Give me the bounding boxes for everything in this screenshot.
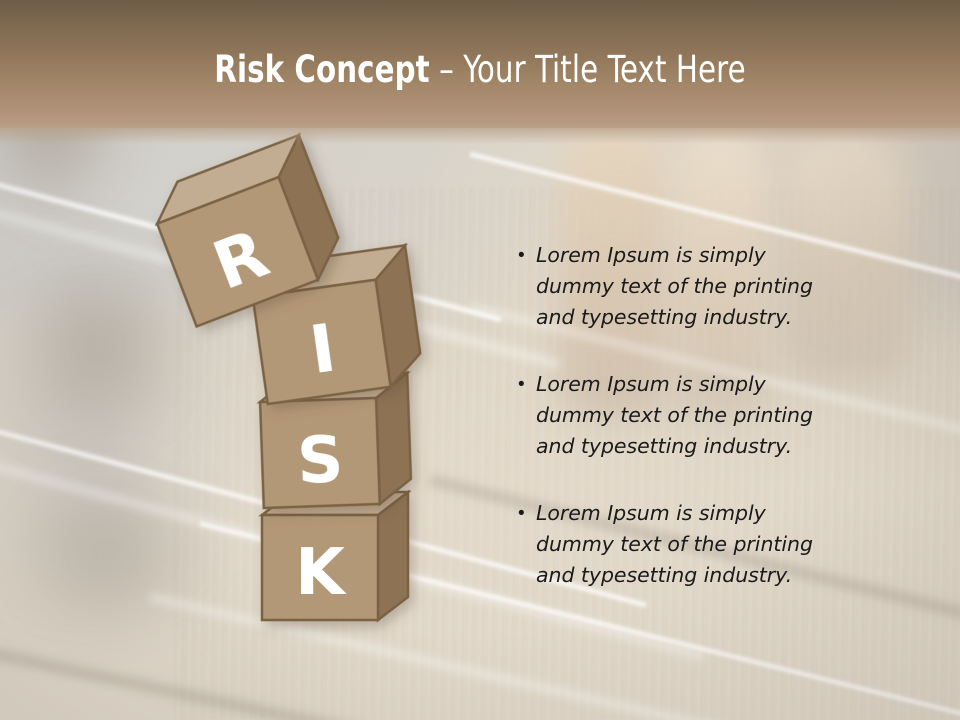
bullet-glyph-icon: • (508, 498, 536, 529)
bullet-item: • Lorem Ipsum is simply dummy text of th… (508, 498, 908, 591)
bullet-glyph-icon: • (508, 369, 536, 400)
bullet-text: Lorem Ipsum is simply dummy text of the … (536, 498, 814, 591)
title-rest-part: – Your Title Text Here (430, 48, 746, 91)
bullet-item: • Lorem Ipsum is simply dummy text of th… (508, 240, 908, 333)
bullet-text: Lorem Ipsum is simply dummy text of the … (536, 240, 814, 333)
presentation-slide: K S I R (0, 0, 960, 720)
slide-title: Risk Concept – Your Title Text Here (58, 48, 903, 92)
bullet-item: • Lorem Ipsum is simply dummy text of th… (508, 369, 908, 462)
bullet-glyph-icon: • (508, 240, 536, 271)
body-text-block: • Lorem Ipsum is simply dummy text of th… (508, 240, 908, 591)
title-bold-part: Risk Concept (214, 48, 429, 91)
bullet-text: Lorem Ipsum is simply dummy text of the … (536, 369, 814, 462)
title-band: Risk Concept – Your Title Text Here (0, 0, 960, 128)
